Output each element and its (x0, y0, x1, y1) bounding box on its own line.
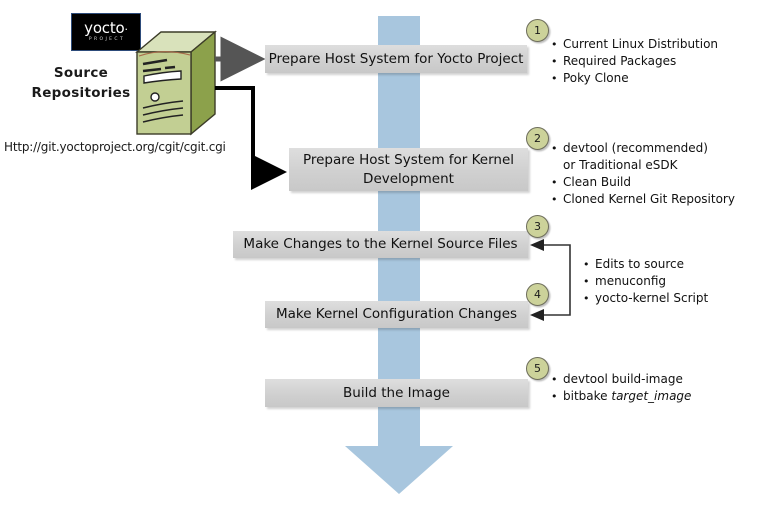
list-item: Current Linux Distribution (551, 36, 718, 53)
logo-dot-icon: · (125, 23, 128, 36)
list-item: Required Packages (551, 53, 718, 70)
process-box-step1[interactable]: Prepare Host System for Yocto Project (265, 45, 527, 73)
source-repositories-label: Source Repositories (16, 63, 146, 103)
arrow-tools-to-step3-step4 (539, 245, 570, 315)
process-box-step2[interactable]: Prepare Host System for Kernel Developme… (289, 148, 528, 191)
list-item: menuconfig (583, 273, 708, 290)
list-item: bitbake target_image (551, 388, 691, 405)
step-badge-3: 3 (526, 215, 549, 238)
list-item: Poky Clone (551, 70, 718, 87)
step-badge-2: 2 (526, 127, 549, 150)
arrowhead-step4-icon (530, 309, 544, 321)
bullet-list-step2: devtool (recommended) or Traditional eSD… (551, 140, 735, 208)
step-badge-1: 1 (526, 19, 549, 42)
list-item: Cloned Kernel Git Repository (551, 191, 735, 208)
source-label-line1: Source (16, 63, 146, 83)
source-label-line2: Repositories (16, 83, 146, 103)
bullet-list-step3-step4: Edits to source menuconfig yocto-kernel … (583, 256, 708, 307)
list-item: yocto-kernel Script (583, 290, 708, 307)
process-box-step4[interactable]: Make Kernel Configuration Changes (265, 301, 528, 328)
logo-subtitle: PROJECT (87, 38, 125, 43)
server-icon (133, 28, 217, 140)
diagram-canvas: yocto· PROJECT Source Repositories Http:… (0, 0, 769, 517)
arrowhead-step3-icon (530, 239, 544, 251)
process-box-step3[interactable]: Make Changes to the Kernel Source Files (233, 231, 528, 258)
bullet-list-step5: devtool build-image bitbake target_image (551, 371, 691, 405)
list-item: devtool (recommended) or Traditional eSD… (551, 140, 723, 174)
flow-arrowhead-icon (345, 446, 453, 494)
bullet-list-step1: Current Linux Distribution Required Pack… (551, 36, 718, 87)
command-argument: target_image (611, 389, 691, 403)
source-repository-url: Http://git.yoctoproject.org/cgit/cgit.cg… (4, 140, 226, 154)
process-box-step5[interactable]: Build the Image (265, 379, 528, 407)
step-badge-4: 4 (526, 283, 549, 306)
command-name: bitbake (563, 389, 611, 403)
list-item: Edits to source (583, 256, 708, 273)
step-badge-5: 5 (526, 357, 549, 380)
list-item: Clean Build (551, 174, 735, 191)
list-item: devtool build-image (551, 371, 691, 388)
logo-wordmark: yocto· (84, 21, 128, 36)
yocto-project-logo: yocto· PROJECT (71, 13, 141, 51)
arrow-source-to-step2 (215, 88, 281, 172)
